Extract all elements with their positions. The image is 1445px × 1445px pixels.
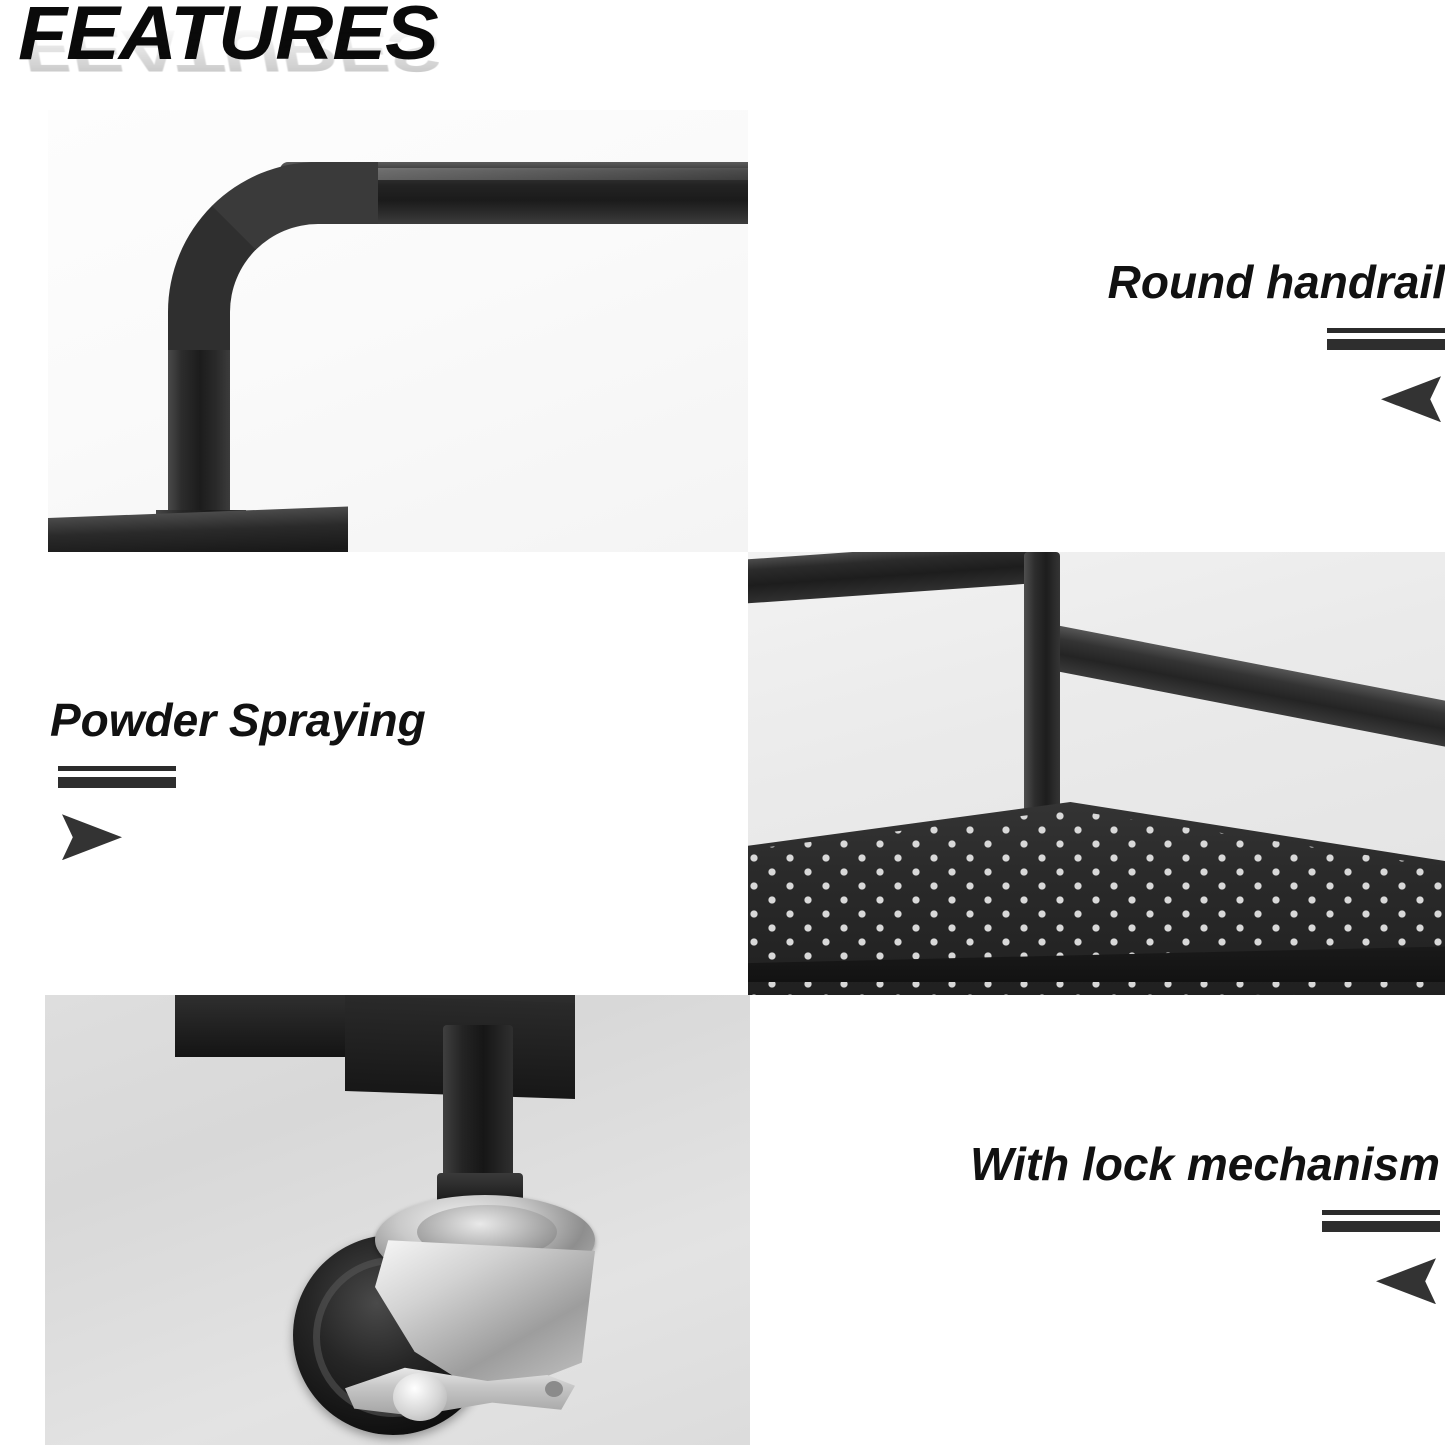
feature-callout-powder-spraying: Powder Spraying bbox=[50, 696, 470, 860]
feature-label-round-handrail: Round handrail bbox=[1040, 258, 1445, 306]
perforated-shelf-photo bbox=[748, 552, 1445, 995]
caster-brake-hole bbox=[545, 1381, 563, 1397]
page-title-block: FEATURES FEATURES bbox=[18, 0, 658, 116]
feature-rule bbox=[1322, 1210, 1440, 1232]
shelf-side-rail bbox=[1030, 620, 1445, 750]
rule-line-thin bbox=[58, 766, 176, 771]
rule-line-thick bbox=[1322, 1221, 1440, 1232]
page-title-reflection: FEATURES bbox=[18, 21, 442, 80]
feature-label-powder-spraying: Powder Spraying bbox=[50, 696, 470, 744]
rule-line-thick bbox=[58, 777, 176, 788]
arrow-right-icon bbox=[62, 814, 122, 860]
feature-label-with-lock-mechanism: With lock mechanism bbox=[910, 1140, 1440, 1188]
rule-line-thick bbox=[1327, 339, 1445, 350]
handrail-frame-bracket bbox=[48, 506, 348, 552]
feature-callout-round-handrail: Round handrail bbox=[1040, 258, 1445, 422]
arrow-left-icon bbox=[1376, 1258, 1436, 1304]
caster-brake-pivot bbox=[393, 1373, 447, 1421]
arrow-left-icon bbox=[1381, 376, 1441, 422]
feature-rule bbox=[58, 766, 176, 788]
feature-callout-with-lock-mechanism: With lock mechanism bbox=[910, 1140, 1440, 1304]
rule-line-thin bbox=[1322, 1210, 1440, 1215]
infographic-canvas: FEATURES FEATURES Round handrail Powder … bbox=[0, 0, 1445, 1445]
feature-rule bbox=[1327, 328, 1445, 350]
caster-wheel-photo bbox=[45, 995, 750, 1445]
shelf-corner-post bbox=[1024, 552, 1060, 842]
shelf-upper-rail bbox=[748, 552, 1048, 604]
handrail-closeup-photo bbox=[48, 110, 748, 552]
rule-line-thin bbox=[1327, 328, 1445, 333]
